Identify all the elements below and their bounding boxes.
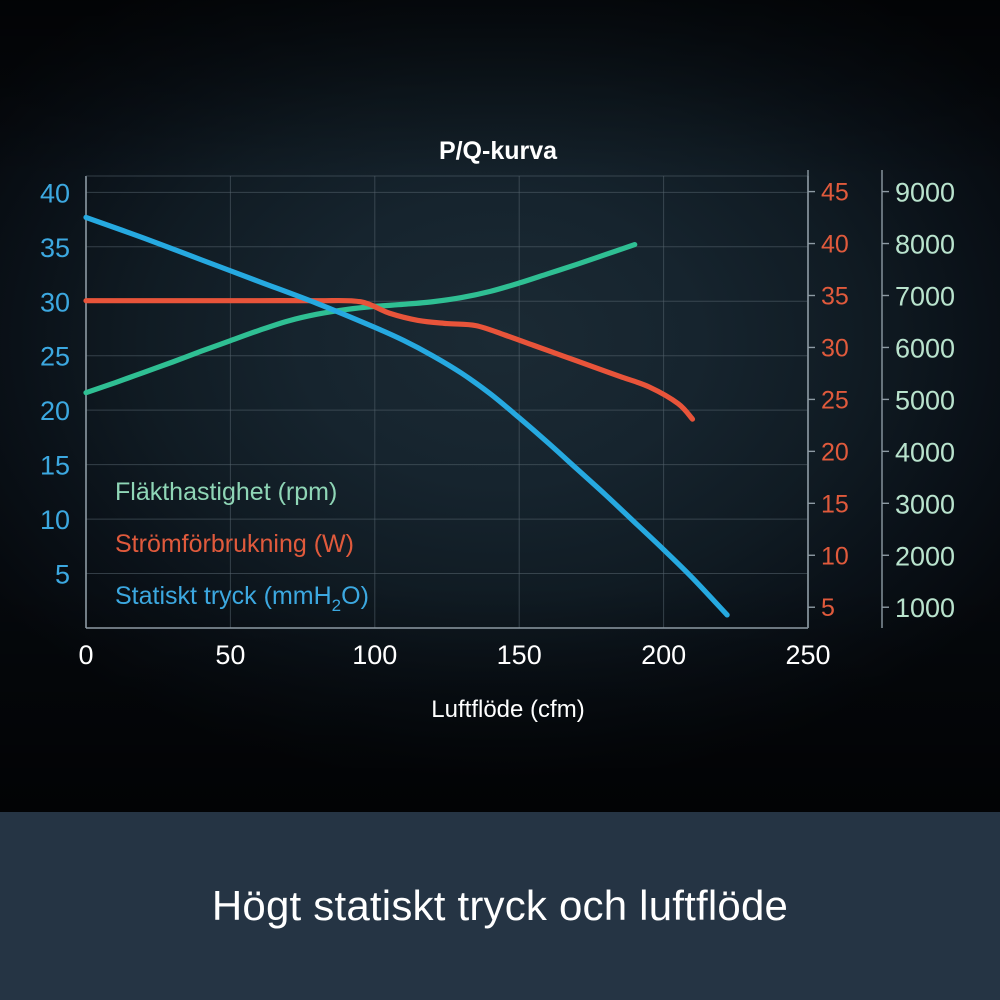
power-axis-tick-label: 15	[821, 490, 849, 518]
power-axis-tick-label: 45	[821, 179, 849, 207]
rpm-axis-tick-label: 1000	[895, 593, 955, 623]
pq-curve-chart: 0501001502002505101520253035405101520253…	[0, 0, 1000, 812]
x-tick-label: 100	[352, 640, 397, 670]
power-axis-tick-label: 25	[821, 386, 849, 414]
power-axis-tick-label: 35	[821, 282, 849, 310]
caption-text: Högt statiskt tryck och luftflöde	[212, 882, 788, 930]
power-axis-tick-label: 40	[821, 231, 849, 259]
caption-banner: Högt statiskt tryck och luftflöde	[0, 812, 1000, 1000]
chart-title: P/Q-kurva	[439, 137, 558, 165]
rpm-axis-tick-label: 7000	[895, 281, 955, 311]
left-axis-tick-label: 15	[40, 451, 70, 481]
left-axis-tick-label: 35	[40, 233, 70, 263]
chart-legend: Fläkthastighet (rpm) Strömförbrukning (W…	[115, 478, 369, 615]
power-axis-tick-label: 20	[821, 438, 849, 466]
rpm-axis-tick-label: 2000	[895, 541, 955, 571]
power-axis-tick-label: 30	[821, 334, 849, 362]
rpm-axis-tick-label: 6000	[895, 333, 955, 363]
legend-item-static-pressure: Statiskt tryck (mmH2O)	[115, 582, 369, 615]
rpm-axis-tick-label: 3000	[895, 489, 955, 519]
left-axis-tick-label: 5	[55, 560, 70, 590]
left-axis-tick-label: 20	[40, 396, 70, 426]
left-axis-tick-label: 10	[40, 505, 70, 535]
x-tick-label: 150	[497, 640, 542, 670]
left-axis-tick-label: 40	[40, 178, 70, 208]
x-tick-label: 250	[785, 640, 830, 670]
power-axis-tick-label: 5	[821, 594, 835, 622]
rpm-axis-tick-label: 5000	[895, 385, 955, 415]
x-tick-label: 0	[78, 640, 93, 670]
power-axis-tick-label: 10	[821, 542, 849, 570]
left-axis-tick-label: 25	[40, 342, 70, 372]
x-axis-title: Luftflöde (cfm)	[431, 696, 584, 723]
rpm-axis-tick-label: 9000	[895, 178, 955, 208]
legend-item-power: Strömförbrukning (W)	[115, 530, 354, 558]
rpm-axis-tick-label: 8000	[895, 230, 955, 260]
axis-spines	[86, 170, 882, 628]
left-axis-tick-label: 30	[40, 287, 70, 317]
legend-item-fan-speed: Fläkthastighet (rpm)	[115, 478, 337, 506]
x-tick-label: 200	[641, 640, 686, 670]
gridlines	[86, 176, 808, 628]
infographic-root: 0501001502002505101520253035405101520253…	[0, 0, 1000, 1000]
rpm-axis-tick-label: 4000	[895, 437, 955, 467]
x-tick-label: 50	[215, 640, 245, 670]
